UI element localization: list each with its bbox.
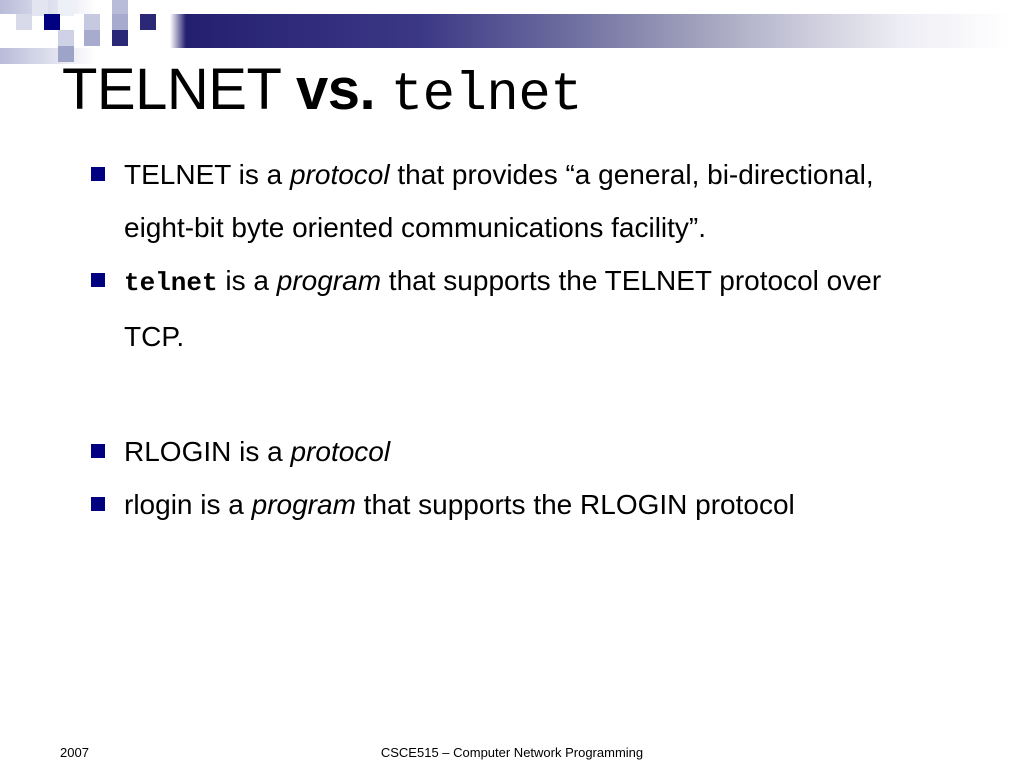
bullet-square-marker bbox=[91, 497, 105, 511]
slide-footer: 2007 CSCE515 – Computer Network Programm… bbox=[0, 742, 1024, 764]
decoration-square bbox=[84, 14, 100, 30]
emphasis-italic: protocol bbox=[290, 436, 390, 467]
bullet-text: telnet is a program that supports the TE… bbox=[124, 265, 881, 352]
text-run: is a bbox=[218, 265, 277, 296]
decoration-square bbox=[112, 30, 128, 46]
text-run: TELNET is a bbox=[124, 159, 290, 190]
code-literal: telnet bbox=[124, 268, 218, 298]
bullet-square-marker bbox=[91, 273, 105, 287]
footer-course-title: CSCE515 – Computer Network Programming bbox=[0, 742, 1024, 764]
text-run: that supports the RLOGIN protocol bbox=[356, 489, 795, 520]
bullet-item: rlogin is a program that supports the RL… bbox=[88, 478, 918, 531]
bullet-text: RLOGIN is a protocol bbox=[124, 436, 390, 467]
bullet-square-marker bbox=[91, 167, 105, 181]
page-title: TELNET vs. telnet bbox=[62, 58, 582, 128]
bullet-item: telnet is a program that supports the TE… bbox=[88, 254, 918, 363]
emphasis-italic: protocol bbox=[290, 159, 390, 190]
decoration-square bbox=[84, 30, 100, 46]
decoration-square bbox=[112, 14, 128, 30]
title-part-telnet: TELNET bbox=[62, 57, 296, 122]
emphasis-italic: program bbox=[277, 265, 381, 296]
header-decoration bbox=[0, 0, 1024, 64]
bullet-item: TELNET is a protocol that provides “a ge… bbox=[88, 148, 918, 254]
decoration-square bbox=[44, 14, 60, 30]
emphasis-italic: program bbox=[252, 489, 356, 520]
decoration-square bbox=[140, 14, 156, 30]
decoration-square bbox=[16, 14, 32, 30]
text-run: rlogin is a bbox=[124, 489, 252, 520]
title-part-vs: vs. bbox=[296, 57, 375, 122]
decoration-square bbox=[58, 0, 74, 16]
bullet-square-marker bbox=[91, 444, 105, 458]
decoration-square bbox=[58, 30, 74, 46]
bullet-list: TELNET is a protocol that provides “a ge… bbox=[88, 148, 918, 531]
bullet-item: RLOGIN is a protocol bbox=[88, 425, 918, 478]
bullet-text: TELNET is a protocol that provides “a ge… bbox=[124, 159, 874, 243]
bullet-text: rlogin is a program that supports the RL… bbox=[124, 489, 795, 520]
title-part-telnet-mono: telnet bbox=[391, 65, 582, 126]
text-run: RLOGIN is a bbox=[124, 436, 290, 467]
